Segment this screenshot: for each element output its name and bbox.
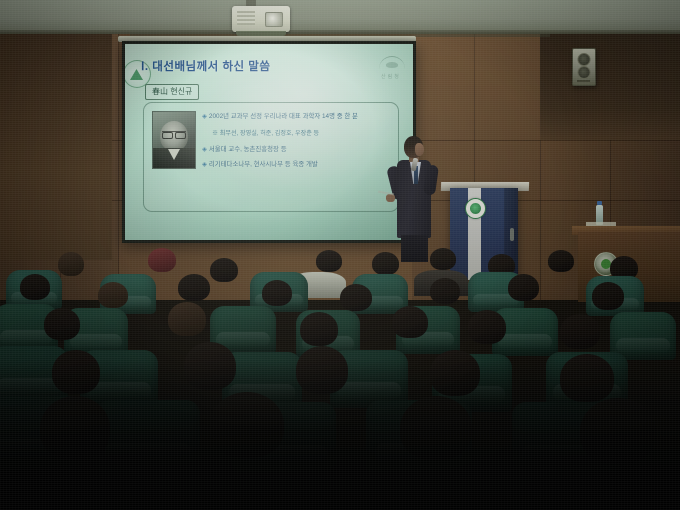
audience-head: [168, 302, 206, 336]
slide-bullet-item: ◈서울대 교수, 농촌진흥청장 등: [202, 146, 390, 154]
audience-head: [468, 310, 506, 344]
logo-caption: 산림청: [381, 73, 401, 80]
audience-head: [98, 282, 128, 308]
projection-screen: 산림청 Ⅰ. 대선배님께서 하신 말씀 春山 현신규 ◈2002년 교과부 선정…: [125, 44, 413, 240]
speaker-cone-icon: [578, 66, 591, 79]
audience-head: [560, 354, 614, 402]
presenter: [392, 136, 438, 262]
audience-head: [148, 248, 176, 272]
audience-head: [296, 346, 348, 394]
presenter-face: [415, 143, 424, 156]
audience-head: [430, 278, 460, 304]
portrait-photo: [152, 111, 196, 169]
audience-head: [40, 396, 110, 460]
audience-head: [184, 342, 236, 390]
audience-head: [210, 258, 238, 282]
lectern-handle: [510, 228, 514, 241]
lectern-emblem-icon: [465, 198, 486, 219]
audience-head: [592, 282, 624, 310]
bullet-marker-icon: ◈: [202, 146, 207, 153]
audience-head: [316, 250, 342, 272]
bottle-cap-icon: [597, 201, 602, 205]
audience-head: [340, 284, 372, 311]
bullet-marker-icon: ◈: [202, 161, 207, 168]
speaker-cone-icon: [578, 53, 591, 66]
audience-head: [52, 350, 100, 394]
bullet-text: 리기테다소나무, 현사시나무 등 육종 개발: [209, 161, 318, 168]
audience-head: [430, 248, 456, 270]
logo-mark-icon: [386, 62, 398, 68]
emblem-core-icon: [470, 203, 481, 214]
speaker-port: [577, 80, 590, 82]
audience-head: [580, 398, 656, 464]
audience-head: [262, 280, 292, 306]
audience-head: [210, 392, 284, 458]
slide-bullet-item: ◈2002년 교과부 선정 우리나라 대표 과학자 14명 중 한 분 ※ 최무…: [202, 113, 390, 137]
wall-speaker: [572, 48, 596, 86]
audience-head: [508, 274, 539, 301]
slide-title: Ⅰ. 대선배님께서 하신 말씀: [141, 58, 270, 74]
projector-vents: [237, 11, 255, 25]
auditorium-seat: [96, 400, 200, 478]
audience-head: [44, 308, 80, 340]
audience-head: [430, 350, 480, 396]
audience-head: [372, 252, 399, 275]
bullet-marker-icon: ◈: [202, 113, 207, 120]
glasses-icon: [162, 131, 186, 137]
audience-head: [58, 252, 84, 276]
audience-head: [560, 314, 600, 349]
audience-head: [400, 396, 472, 460]
projector-lens-icon: [265, 12, 283, 27]
bullet-subtext: ※ 최무선, 장영실, 허준, 김정호, 우장춘 등: [212, 128, 390, 137]
audience-head: [178, 274, 210, 301]
slide-bullet-list: ◈2002년 교과부 선정 우리나라 대표 과학자 14명 중 한 분 ※ 최무…: [202, 113, 390, 176]
bullet-text: 서울대 교수, 농촌진흥청장 등: [209, 146, 287, 153]
audience-head: [548, 250, 574, 272]
right-wall-shadow: [540, 34, 680, 140]
slide-subject-box: 春山 현신규: [145, 84, 199, 100]
ceiling-projector: [232, 6, 290, 32]
presenter-right-arm: [423, 164, 439, 195]
projection-screen-frame: 산림청 Ⅰ. 대선배님께서 하신 말씀 春山 현신규 ◈2002년 교과부 선정…: [122, 41, 416, 243]
audience-area: [0, 246, 680, 510]
bullet-text: 2002년 교과부 선정 우리나라 대표 과학자 14명 중 한 분: [209, 113, 358, 120]
audience-head: [20, 274, 50, 300]
left-wall-shadow: [0, 34, 112, 260]
slide-bullet-item: ◈리기테다소나무, 현사시나무 등 육종 개발: [202, 161, 390, 169]
audience-head: [392, 306, 428, 338]
audience-head: [300, 312, 338, 346]
lecture-hall-photo: 산림청 Ⅰ. 대선배님께서 하신 말씀 春山 현신규 ◈2002년 교과부 선정…: [0, 0, 680, 510]
slide-body-panel: ◈2002년 교과부 선정 우리나라 대표 과학자 14명 중 한 분 ※ 최무…: [143, 102, 399, 212]
ceiling: [0, 0, 680, 34]
institution-watermark-logo-icon: 산림청: [377, 54, 407, 80]
